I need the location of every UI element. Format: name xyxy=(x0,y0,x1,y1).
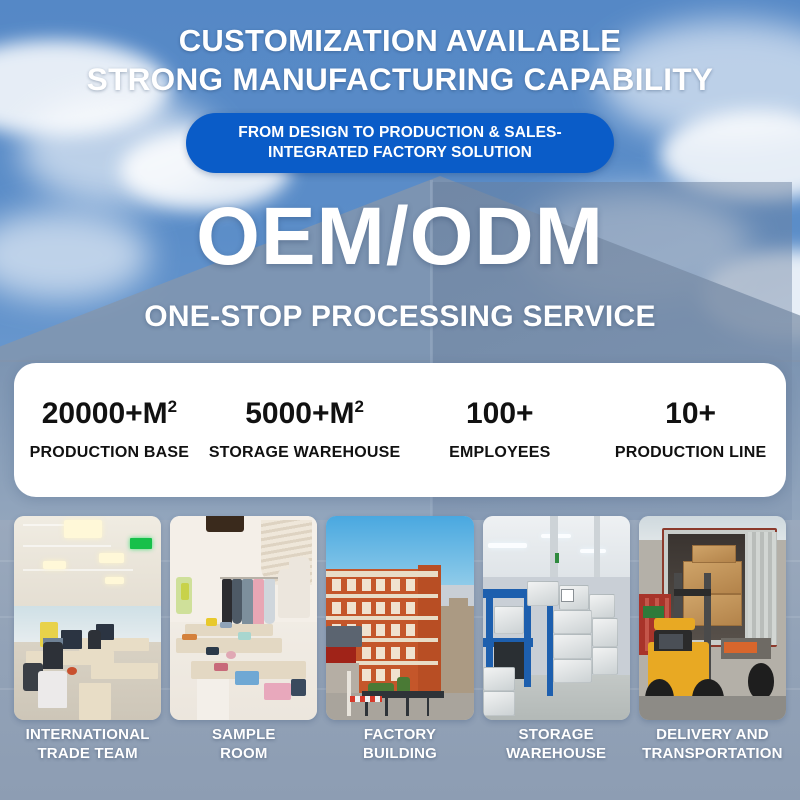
photo-international-trade-team xyxy=(14,516,161,720)
page-subtitle: ONE-STOP PROCESSING SERVICE xyxy=(0,300,800,334)
stat-storage-warehouse: 5000+M2 STORAGE WAREHOUSE xyxy=(205,398,405,462)
stat-label: EMPLOYEES xyxy=(408,444,591,462)
photo-delivery-transportation xyxy=(639,516,786,720)
stat-production-base: 20000+M2 PRODUCTION BASE xyxy=(14,398,205,462)
stat-label: STORAGE WAREHOUSE xyxy=(209,444,401,462)
page-title: OEM/ODM xyxy=(0,196,800,278)
stat-employees: 100+ EMPLOYEES xyxy=(404,398,595,462)
caption-sample-room: SAMPLE ROOM xyxy=(170,726,317,764)
photo-sample-room xyxy=(170,516,317,720)
caption-delivery-transportation: DELIVERY AND TRANSPORTATION xyxy=(639,726,786,764)
photo-storage-warehouse xyxy=(483,516,630,720)
caption-international-trade-team: INTERNATIONAL TRADE TEAM xyxy=(14,726,161,764)
stats-card: 20000+M2 PRODUCTION BASE 5000+M2 STORAGE… xyxy=(14,363,786,497)
stat-value: 10+ xyxy=(659,398,722,436)
stat-value: 20000+M2 xyxy=(36,398,183,436)
solution-badge-text: FROM DESIGN TO PRODUCTION & SALES-INTEGR… xyxy=(186,123,614,164)
banner-headline: CUSTOMIZATION AVAILABLE STRONG MANUFACTU… xyxy=(0,22,800,99)
stat-label: PRODUCTION BASE xyxy=(18,444,201,462)
stat-production-line: 10+ PRODUCTION LINE xyxy=(595,398,786,462)
stat-label: PRODUCTION LINE xyxy=(599,444,782,462)
headline-line-2: STRONG MANUFACTURING CAPABILITY xyxy=(0,60,800,99)
solution-badge: FROM DESIGN TO PRODUCTION & SALES-INTEGR… xyxy=(186,113,614,173)
stat-value: 5000+M2 xyxy=(239,398,370,436)
photo-factory-building xyxy=(326,516,473,720)
caption-storage-warehouse: STORAGE WAREHOUSE xyxy=(483,726,630,764)
stat-value: 100+ xyxy=(460,398,540,436)
photo-captions: INTERNATIONAL TRADE TEAM SAMPLE ROOM FAC… xyxy=(14,726,786,764)
photo-strip xyxy=(14,516,786,720)
headline-line-1: CUSTOMIZATION AVAILABLE xyxy=(179,23,622,58)
caption-factory-building: FACTORY BUILDING xyxy=(326,726,473,764)
